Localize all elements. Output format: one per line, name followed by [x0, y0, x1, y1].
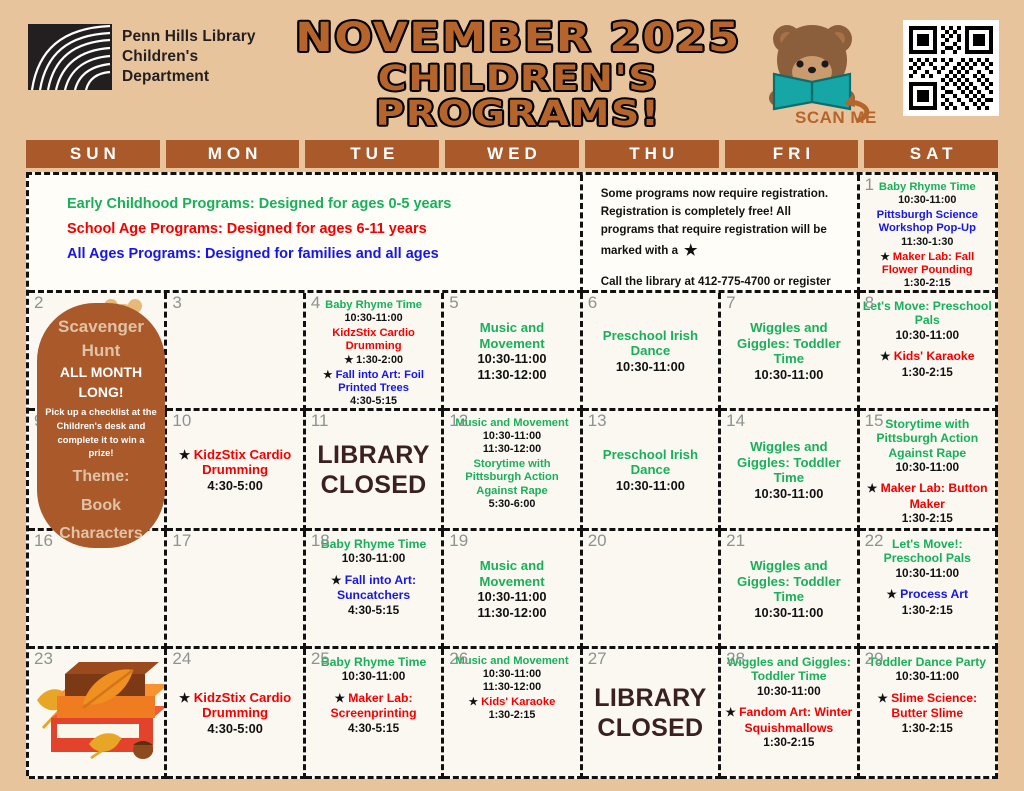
day-number: 28 [726, 650, 745, 669]
event-time: 4:30-5:15 [309, 603, 438, 617]
weekday-header-row: SUNMONTUEWEDTHUFRISAT [26, 140, 998, 168]
day-number: 14 [726, 412, 745, 431]
title-month-year: NOVEMBER 2025 [238, 18, 798, 62]
day-number: 26 [449, 650, 468, 669]
day-number: 17 [172, 532, 191, 551]
event-time: ★ 1:30-2:00 [309, 354, 438, 367]
registration-star-icon: ★ [344, 355, 356, 366]
day-number: 24 [172, 650, 191, 669]
qr-code-icon[interactable] [903, 20, 999, 116]
weekday-header-wed: WED [445, 140, 579, 168]
event-time: 10:30-11:00 [309, 312, 438, 325]
event-time: 1:30-2:15 [863, 721, 992, 735]
event-time: 4:30-5:00 [170, 721, 299, 736]
library-closed-label: LIBRARYCLOSED [594, 683, 706, 744]
day-number: 29 [865, 650, 884, 669]
day-number: 5 [449, 294, 458, 313]
event-time: 10:30-11:00 [724, 684, 853, 698]
event-entry: ★ KidzStix Cardio Drumming4:30-5:00 [170, 447, 299, 494]
event-time: 10:30-11:00 [863, 460, 992, 474]
day-events: Preschool Irish Dance10:30-11:00 [586, 295, 715, 405]
event-time: 10:30-11:00 [586, 359, 715, 374]
scavenger-hunt-callout: Scavenger Hunt ALL MONTH LONG! Pick up a… [37, 303, 165, 548]
event-title: ★ Process Art [863, 587, 992, 603]
event-time: 10:30-11:0011:30-12:00 [447, 589, 576, 620]
event-time: 1:30-2:15 [863, 365, 992, 379]
day-cell-27[interactable]: 27LIBRARYCLOSED [583, 649, 721, 779]
page-title: NOVEMBER 2025 CHILDREN'S PROGRAMS! [268, 18, 768, 132]
event-title: Storytime with Pittsburgh Action Against… [447, 458, 576, 498]
event-time: 10:30-11:00 [586, 478, 715, 493]
day-events: Wiggles and Giggles: Toddler Time10:30-1… [724, 651, 853, 773]
event-time: 1:30-2:15 [724, 735, 853, 749]
event-entry: Storytime with Pittsburgh Action Against… [447, 458, 576, 511]
event-entry: Wiggles and Giggles: Toddler Time10:30-1… [724, 558, 853, 620]
day-number: 20 [588, 532, 607, 551]
event-title: Pittsburgh Science Workshop Pop-Up [863, 209, 992, 235]
day-cell-8[interactable]: 8Let's Move: Preschool Pals10:30-11:00★ … [860, 293, 998, 411]
library-name: Penn Hills Library Children's Department [122, 27, 256, 86]
calendar-page: Penn Hills Library Children's Department… [0, 0, 1024, 791]
event-time: 10:30-11:00 [863, 566, 992, 580]
event-title: Wiggles and Giggles: Toddler Time [724, 439, 853, 486]
event-time: 11:30-1:30 [863, 236, 992, 249]
day-events: Baby Rhyme Time10:30-11:00★ Maker Lab: S… [309, 651, 438, 773]
day-cell-17[interactable]: 17 [167, 531, 305, 649]
event-entry: Pittsburgh Science Workshop Pop-Up11:30-… [863, 209, 992, 248]
event-time: 10:30-11:0011:30-12:00 [447, 668, 576, 694]
event-entry: ★ Kids' Karaoke1:30-2:15 [863, 349, 992, 379]
registration-star-icon: ★ [880, 351, 894, 363]
day-cell-25[interactable]: 25Baby Rhyme Time10:30-11:00★ Maker Lab:… [306, 649, 444, 779]
registration-star-icon: ★ [323, 369, 335, 381]
event-entry: ★ Fall into Art: Foil Printed Trees4:30-… [309, 369, 438, 408]
scavenger-line-6: Theme: [43, 460, 159, 489]
registration-star-icon: ★ [179, 448, 194, 462]
event-time: 5:30-6:00 [447, 498, 576, 511]
event-entry: ★ Process Art1:30-2:15 [863, 587, 992, 617]
event-title: ★ KidzStix Cardio Drumming [170, 447, 299, 478]
event-title: Wiggles and Giggles: Toddler Time [724, 558, 853, 605]
registration-star-icon: ★ [867, 483, 881, 495]
legend-line-0: Early Childhood Programs: Designed for a… [67, 196, 566, 212]
event-title: ★ Fandom Art: Winter Squishmallows [724, 705, 853, 735]
event-entry: Preschool Irish Dance10:30-11:00 [586, 328, 715, 375]
registration-star-icon: ★ [886, 589, 900, 601]
weekday-header-fri: FRI [725, 140, 859, 168]
day-cell-16[interactable]: 16 [29, 531, 167, 649]
scavenger-line-7: Book [43, 489, 159, 518]
day-cell-6[interactable]: 6Preschool Irish Dance10:30-11:00 [583, 293, 721, 411]
day-cell-22[interactable]: 22Let's Move!: Preschool Pals10:30-11:00… [860, 531, 998, 649]
registration-star-icon: ★ [469, 696, 481, 708]
registration-star-icon: ★ [331, 575, 345, 587]
event-time: 10:30-11:00 [309, 669, 438, 683]
event-time: 10:30-11:0011:30-12:00 [447, 430, 576, 456]
registration-star-icon: ★ [880, 251, 892, 263]
day-cell-23[interactable]: 23 [29, 649, 167, 779]
event-title: ★ Fall into Art: Suncatchers [309, 573, 438, 603]
scavenger-line-8: Characters [43, 517, 159, 546]
registration-note-paragraph-1: Some programs now require registration. … [601, 185, 843, 262]
day-cell-12[interactable]: 12Music and Movement10:30-11:0011:30-12:… [444, 411, 582, 531]
event-time: 4:30-5:15 [309, 721, 438, 735]
day-number: 18 [311, 532, 330, 551]
scavenger-line-5: Pick up a checklist at the Children's de… [43, 402, 159, 460]
day-number: 7 [726, 294, 735, 313]
event-title: Preschool Irish Dance [586, 447, 715, 478]
weekday-header-sat: SAT [864, 140, 998, 168]
day-cell-21[interactable]: 21Wiggles and Giggles: Toddler Time10:30… [721, 531, 859, 649]
day-number: 12 [449, 412, 468, 431]
library-logo-mark-icon [28, 24, 112, 90]
logo-line-1: Penn Hills Library [122, 27, 256, 47]
event-entry: ★ Slime Science: Butter Slime1:30-2:15 [863, 691, 992, 735]
event-title: ★ Fall into Art: Foil Printed Trees [309, 369, 438, 395]
day-number: 6 [588, 294, 597, 313]
event-title: ★ Slime Science: Butter Slime [863, 691, 992, 721]
event-time: 10:30-11:00 [863, 328, 992, 342]
day-cell-1[interactable]: 1Baby Rhyme Time10:30-11:00Pittsburgh Sc… [860, 175, 998, 293]
event-time: 4:30-5:15 [309, 395, 438, 408]
scavenger-line-2: Hunt [43, 339, 159, 363]
event-time: 10:30-11:00 [863, 669, 992, 683]
day-cell-4[interactable]: 4Baby Rhyme Time10:30-11:00KidzStix Card… [306, 293, 444, 411]
day-events: Wiggles and Giggles: Toddler Time10:30-1… [724, 295, 853, 405]
event-title: Wiggles and Giggles: Toddler Time [724, 320, 853, 367]
event-title: ★ Maker Lab: Fall Flower Pounding [863, 251, 992, 277]
registration-star-icon: ★ [877, 693, 891, 705]
day-number: 4 [311, 294, 320, 313]
day-number: 27 [588, 650, 607, 669]
day-number: 3 [172, 294, 181, 313]
day-events: Toddler Dance Party10:30-11:00★ Slime Sc… [863, 651, 992, 773]
day-events: Baby Rhyme Time10:30-11:00Pittsburgh Sci… [863, 177, 992, 287]
event-entry: Wiggles and Giggles: Toddler Time10:30-1… [724, 439, 853, 501]
event-time: 10:30-11:00 [724, 486, 853, 501]
day-cell-11[interactable]: 11LIBRARYCLOSED [306, 411, 444, 531]
event-time: 10:30-11:00 [724, 367, 853, 382]
event-entry: ★ Maker Lab: Screenprinting4:30-5:15 [309, 691, 438, 735]
event-title: Music and Movement [447, 320, 576, 351]
event-title: Music and Movement [447, 558, 576, 589]
registration-star-icon: ★ [678, 242, 697, 259]
scavenger-line-3: ALL MONTH [43, 363, 159, 383]
event-time: 4:30-5:00 [170, 478, 299, 493]
day-number: 15 [865, 412, 884, 431]
registration-star-icon: ★ [335, 693, 349, 705]
day-cell-24[interactable]: 24★ KidzStix Cardio Drumming4:30-5:00 [167, 649, 305, 779]
event-time: 10:30-11:00 [724, 605, 853, 620]
event-entry: KidzStix Cardio Drumming★ 1:30-2:00 [309, 327, 438, 367]
day-cell-13[interactable]: 13Preschool Irish Dance10:30-11:00 [583, 411, 721, 531]
scavenger-line-1: Scavenger [43, 315, 159, 339]
title-subtitle: CHILDREN'S PROGRAMS! [238, 62, 798, 132]
event-time: 1:30-2:15 [863, 511, 992, 525]
calendar-grid: Early Childhood Programs: Designed for a… [26, 172, 998, 776]
event-title: ★ Kids' Karaoke [863, 349, 992, 365]
legend-line-1: School Age Programs: Designed for ages 6… [67, 221, 566, 237]
logo-line-3: Department [122, 67, 256, 87]
event-title: Preschool Irish Dance [586, 328, 715, 359]
event-title: KidzStix Cardio Drumming [309, 327, 438, 353]
registration-star-icon: ★ [179, 691, 194, 705]
day-number: 8 [865, 294, 874, 313]
logo-line-2: Children's [122, 47, 256, 67]
library-closed-label: LIBRARYCLOSED [317, 440, 429, 501]
day-cell-7[interactable]: 7Wiggles and Giggles: Toddler Time10:30-… [721, 293, 859, 411]
day-cell-19[interactable]: 19Music and Movement10:30-11:0011:30-12:… [444, 531, 582, 649]
event-entry: ★ Maker Lab: Fall Flower Pounding1:30-2:… [863, 251, 992, 290]
event-time: 1:30-2:15 [863, 603, 992, 617]
event-entry: ★ Fandom Art: Winter Squishmallows1:30-2… [724, 705, 853, 749]
weekday-header-tue: TUE [305, 140, 439, 168]
day-number: 25 [311, 650, 330, 669]
event-entry: ★ KidzStix Cardio Drumming4:30-5:00 [170, 690, 299, 737]
event-time: 10:30-11:0011:30-12:00 [447, 351, 576, 382]
library-logo: Penn Hills Library Children's Department [28, 24, 256, 90]
day-events: ★ KidzStix Cardio Drumming4:30-5:00 [170, 651, 299, 773]
day-number: 21 [726, 532, 745, 551]
event-time: 1:30-2:15 [863, 277, 992, 290]
weekday-header-thu: THU [585, 140, 719, 168]
event-entry: Preschool Irish Dance10:30-11:00 [586, 447, 715, 494]
event-entry: ★ Kids' Karaoke1:30-2:15 [447, 696, 576, 722]
event-entry: Let's Move: Preschool Pals10:30-11:00 [863, 299, 992, 342]
registration-star-icon: ★ [725, 707, 739, 719]
day-number: 10 [172, 412, 191, 431]
day-events: Let's Move: Preschool Pals10:30-11:00★ K… [863, 295, 992, 405]
day-cell-20[interactable]: 20 [583, 531, 721, 649]
day-number: 22 [865, 532, 884, 551]
event-title: Baby Rhyme Time [309, 299, 438, 312]
event-title: ★ Kids' Karaoke [447, 696, 576, 709]
day-number: 19 [449, 532, 468, 551]
weekday-header-mon: MON [166, 140, 300, 168]
day-cell-15[interactable]: 15Storytime with Pittsburgh Action Again… [860, 411, 998, 531]
event-title: Let's Move: Preschool Pals [863, 299, 992, 328]
day-cell-29[interactable]: 29Toddler Dance Party10:30-11:00★ Slime … [860, 649, 998, 779]
event-title: Baby Rhyme Time [863, 181, 992, 194]
scavenger-line-4: LONG! [43, 383, 159, 403]
event-title: ★ Maker Lab: Screenprinting [309, 691, 438, 721]
day-cell-18[interactable]: 18Baby Rhyme Time10:30-11:00★ Fall into … [306, 531, 444, 649]
registration-note-box: Some programs now require registration. … [583, 175, 860, 293]
day-events: Baby Rhyme Time10:30-11:00KidzStix Cardi… [309, 295, 438, 405]
page-header: Penn Hills Library Children's Department… [0, 0, 1024, 132]
day-number: 11 [311, 412, 329, 431]
event-time: 1:30-2:15 [447, 709, 576, 722]
day-number: 13 [588, 412, 607, 431]
day-events: Music and Movement10:30-11:0011:30-12:00… [447, 651, 576, 773]
event-time: 10:30-11:00 [309, 551, 438, 565]
event-title: ★ KidzStix Cardio Drumming [170, 690, 299, 721]
day-number: 1 [865, 176, 874, 195]
event-entry: Music and Movement10:30-11:0011:30-12:00 [447, 320, 576, 382]
day-cell-3[interactable]: 3 [167, 293, 305, 411]
event-entry: ★ Fall into Art: Suncatchers4:30-5:15 [309, 573, 438, 617]
event-entry: Music and Movement10:30-11:0011:30-12:00 [447, 558, 576, 620]
autumn-books-icon [29, 649, 164, 776]
event-entry: Baby Rhyme Time10:30-11:00 [309, 299, 438, 325]
day-cell-10[interactable]: 10★ KidzStix Cardio Drumming4:30-5:00 [167, 411, 305, 531]
event-time: 10:30-11:00 [863, 194, 992, 207]
event-entry: Wiggles and Giggles: Toddler Time10:30-1… [724, 320, 853, 382]
weekday-header-sun: SUN [26, 140, 160, 168]
day-events: Music and Movement10:30-11:0011:30-12:00 [447, 295, 576, 405]
day-cell-26[interactable]: 26Music and Movement10:30-11:0011:30-12:… [444, 649, 582, 779]
event-entry: Baby Rhyme Time10:30-11:00 [863, 181, 992, 207]
event-title: ★ Maker Lab: Button Maker [863, 481, 992, 511]
scan-me-label: SCAN ME [795, 108, 877, 128]
day-cell-5[interactable]: 5Music and Movement10:30-11:0011:30-12:0… [444, 293, 582, 411]
day-cell-28[interactable]: 28Wiggles and Giggles: Toddler Time10:30… [721, 649, 859, 779]
day-cell-14[interactable]: 14Wiggles and Giggles: Toddler Time10:30… [721, 411, 859, 531]
event-entry: ★ Maker Lab: Button Maker1:30-2:15 [863, 481, 992, 525]
program-legend-box: Early Childhood Programs: Designed for a… [29, 175, 583, 293]
legend-line-2: All Ages Programs: Designed for families… [67, 246, 566, 262]
